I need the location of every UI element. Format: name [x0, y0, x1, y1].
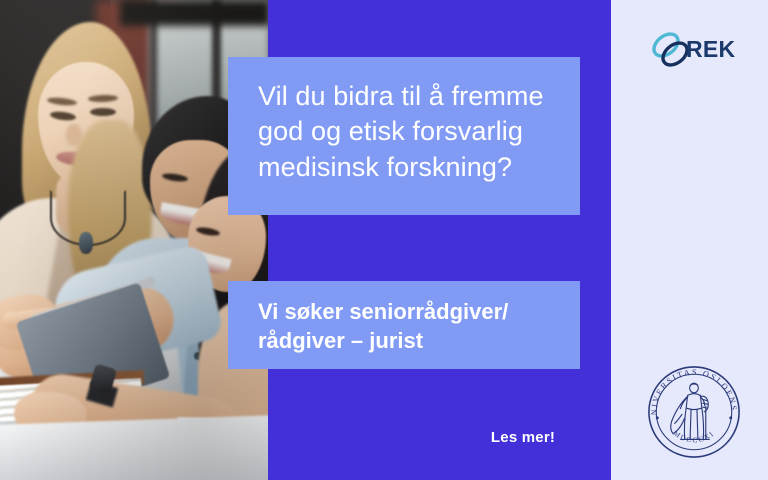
uio-seal: UNIVERSITAS OSLOENSIS MDCCCXI [645, 363, 743, 461]
rek-logo[interactable]: REK [650, 28, 740, 72]
uio-seal-dot-right [729, 416, 732, 419]
rek-ellipse-teal [650, 30, 682, 61]
uio-seal-apollo-figure [671, 383, 710, 439]
subheadline-box: Vi søker seniorrådgiver/ rådgiver – juri… [228, 281, 580, 369]
uio-seal-graphic: UNIVERSITAS OSLOENSIS MDCCCXI [645, 363, 743, 461]
uio-seal-dot-left [656, 416, 659, 419]
uio-seal-ring-text: UNIVERSITAS OSLOENSIS [645, 363, 738, 415]
headline-text: Vil du bidra til å fremme god og etisk f… [258, 79, 550, 185]
subheadline-text: Vi søker seniorrådgiver/ rådgiver – juri… [258, 297, 550, 355]
rek-wordmark: REK [686, 36, 735, 63]
recruitment-banner: Vil du bidra til å fremme god og etisk f… [0, 0, 768, 480]
headline-box: Vil du bidra til å fremme god og etisk f… [228, 57, 580, 215]
uio-seal-year-text: MDCCCXI [672, 429, 717, 444]
read-more-link[interactable]: Les mer! [466, 429, 580, 446]
